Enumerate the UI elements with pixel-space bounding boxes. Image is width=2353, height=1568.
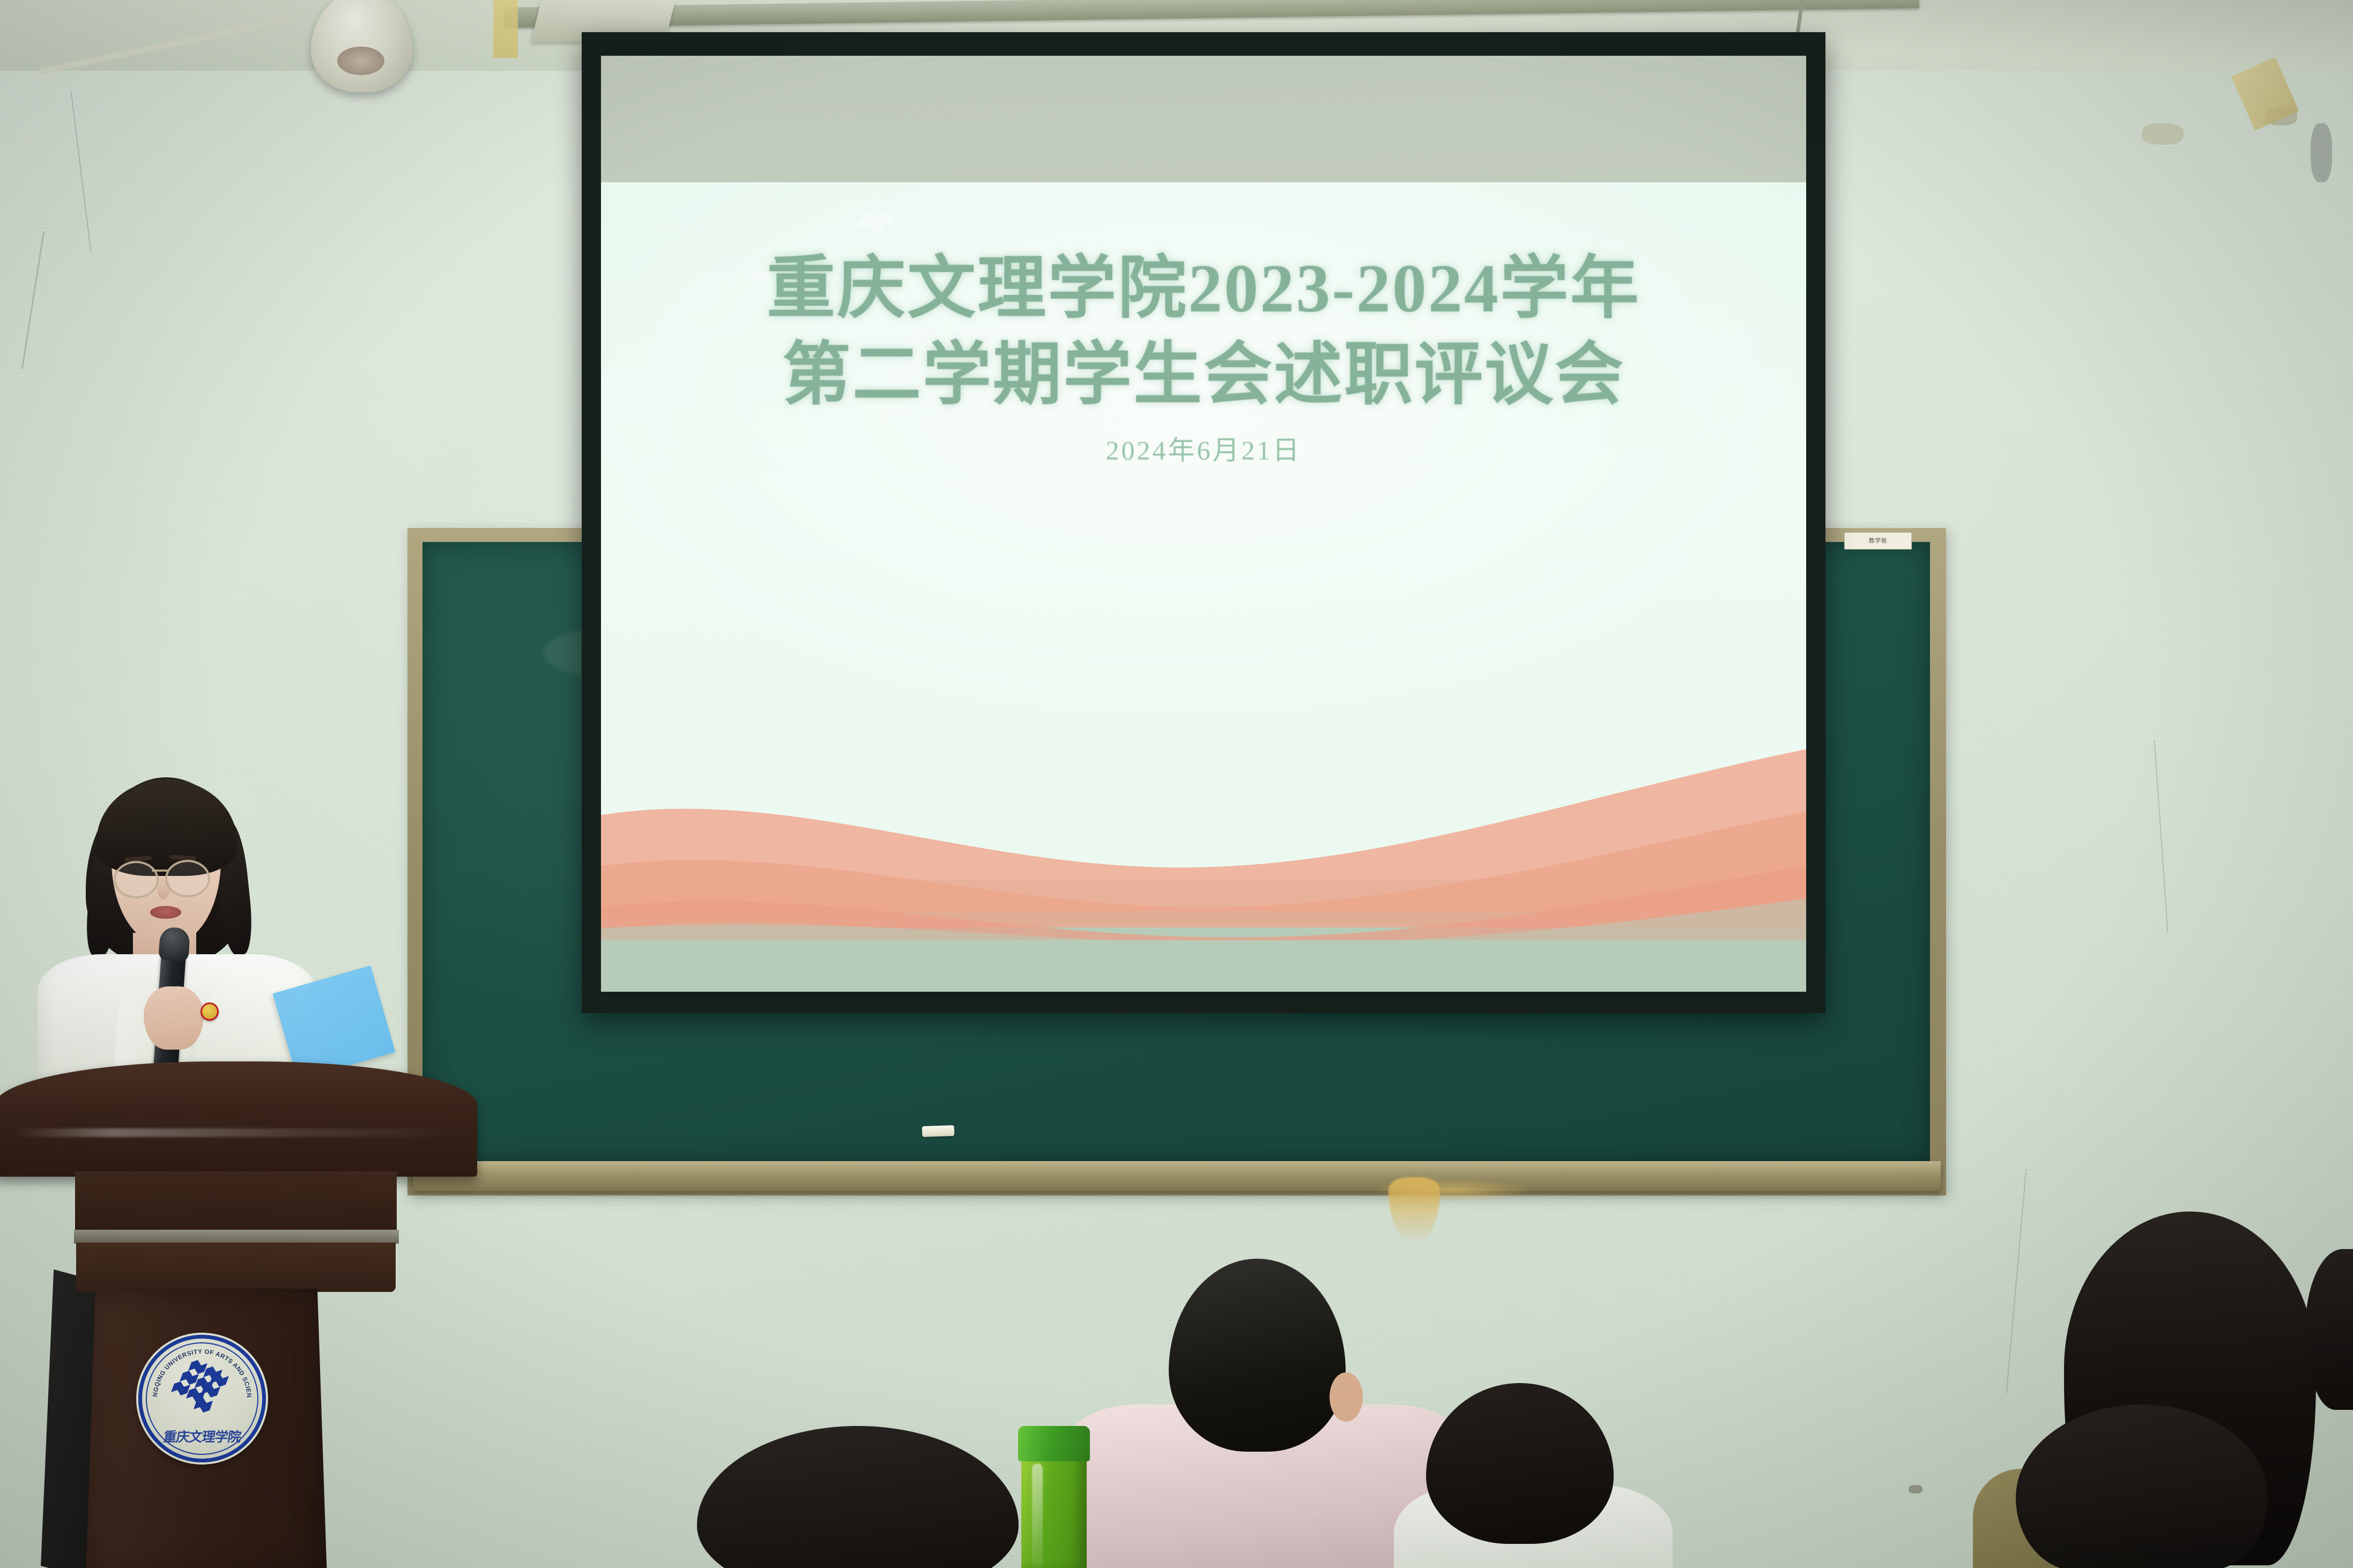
female-student-presenter (21, 772, 354, 1104)
lectern-top-highlight (14, 1128, 458, 1137)
wall-scuff (2142, 123, 2184, 145)
blue-wave-lattice-mark (167, 1359, 237, 1417)
green-water-bottle-cap (1018, 1426, 1090, 1461)
slide-title-line-1: 重庆文理学院2023-2024学年 (601, 246, 1806, 332)
lectern-top-surface (0, 1061, 477, 1177)
ceiling-tape-strip (493, 0, 518, 58)
eyeglasses-lens-left (114, 861, 159, 898)
seated-man-ear (1330, 1372, 1363, 1422)
wall-scuff (1909, 1485, 1923, 1493)
slide-title-line-2: 第二学期学生会述职评议会 (601, 332, 1806, 418)
university-emblem: CHONGQING UNIVERSITY OF ARTS AND SCIENCE… (138, 1335, 266, 1462)
bottle-highlight (1032, 1463, 1043, 1568)
lectern-neck-upper (75, 1171, 397, 1230)
projection-screen-surface: 重庆文理学院2023-2024学年 第二学期学生会述职评议会 2024年6月21… (601, 56, 1806, 992)
slide-date: 2024年6月21日 (601, 429, 1806, 467)
speaker-hand (144, 986, 204, 1050)
projected-slide: 重庆文理学院2023-2024学年 第二学期学生会述职评议会 2024年6月21… (601, 182, 1806, 992)
emblem-chinese-text: 重庆文理学院 (140, 1426, 263, 1446)
chalk-tray (413, 1161, 1941, 1191)
red-gold-lapel-pin (201, 1002, 219, 1021)
classroom-photo-scene: 教学板 重庆文理学院2023-2024学年 (0, 0, 2353, 1568)
ceiling-dome-fixture (311, 0, 413, 92)
eyeglasses-lens-right (165, 860, 210, 897)
flying-bird-icon (853, 208, 899, 246)
microphone-head (158, 926, 190, 962)
chalkboard-label-tag: 教学板 (1844, 532, 1912, 549)
wave-shape-shadow (601, 808, 1806, 942)
speaker-lips (150, 906, 181, 919)
chalkboard-tag-text: 教学板 (1845, 533, 1911, 549)
eyeglasses-bridge (152, 870, 168, 872)
wall-scuff (2311, 123, 2332, 182)
speaker-hair-front (97, 779, 237, 876)
slide-wave-decoration (601, 734, 1806, 992)
projection-screen: 重庆文理学院2023-2024学年 第二学期学生会述职评议会 2024年6月21… (582, 32, 1825, 1013)
speaker-nose (157, 877, 170, 900)
lectern-trim-band (74, 1230, 399, 1244)
lectern-neck-lower (76, 1243, 396, 1292)
white-chalk-stick (922, 1125, 955, 1137)
slide-title: 重庆文理学院2023-2024学年 第二学期学生会述职评议会 (601, 246, 1806, 419)
lectern: CHONGQING UNIVERSITY OF ARTS AND SCIENCE… (0, 1061, 488, 1568)
